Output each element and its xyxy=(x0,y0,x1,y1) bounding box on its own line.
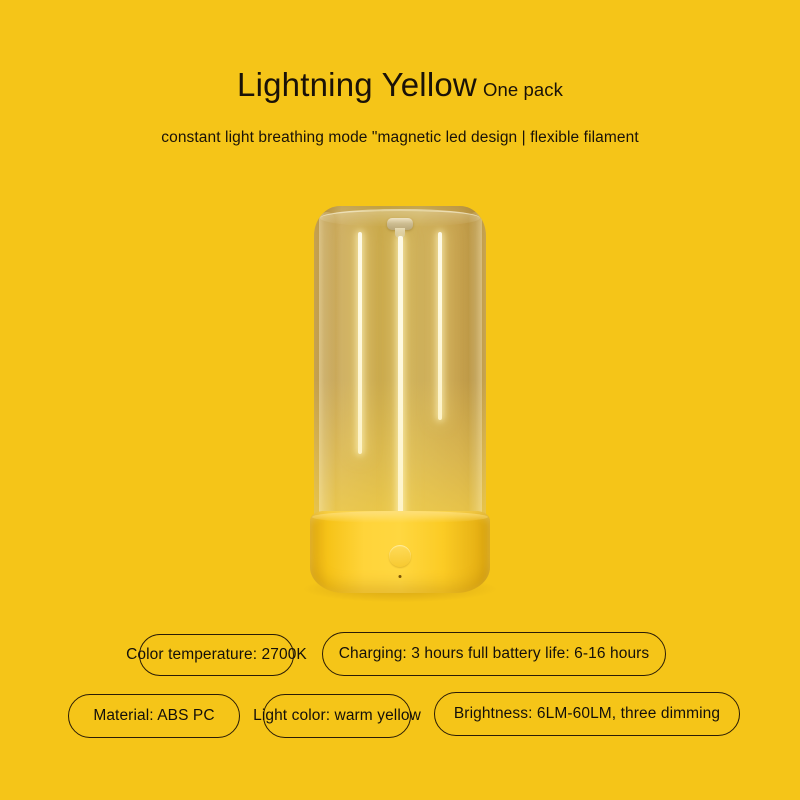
base-top-edge xyxy=(312,511,488,523)
product-image-lamp xyxy=(310,206,490,596)
spec-pill-charging: Charging: 3 hours full battery life: 6-1… xyxy=(322,632,666,676)
lamp-glass-shade xyxy=(314,206,486,528)
spec-pill-color-temperature: Color temperature: 2700K xyxy=(139,634,294,676)
spec-pill-label: Material: ABS PC xyxy=(93,707,214,725)
spec-pill-label: Brightness: 6LM-60LM, three dimming xyxy=(454,705,720,723)
led-filament-strand xyxy=(398,236,403,528)
spec-pill-brightness: Brightness: 6LM-60LM, three dimming xyxy=(434,692,740,736)
pack-label: One pack xyxy=(483,79,563,100)
spec-pill-label: Color temperature: 2700K xyxy=(126,646,307,664)
glass-highlight-left xyxy=(319,212,335,521)
status-led-indicator xyxy=(399,575,402,578)
lamp-base xyxy=(310,511,490,593)
spec-pill-label: Light color: warm yellow xyxy=(253,707,421,725)
product-poster: Lightning YellowOne pack constant light … xyxy=(0,0,800,800)
glass-highlight-right xyxy=(469,212,482,521)
spec-pill-label: Charging: 3 hours full battery life: 6-1… xyxy=(339,645,650,663)
led-filament-strand xyxy=(438,232,442,420)
spec-pill-light-color: Light color: warm yellow xyxy=(263,694,411,738)
spec-pill-material: Material: ABS PC xyxy=(68,694,240,738)
product-title: Lightning Yellow xyxy=(237,66,477,103)
power-button-icon xyxy=(389,545,411,567)
led-filament-strand xyxy=(358,232,362,454)
product-subtitle: constant light breathing mode "magnetic … xyxy=(0,129,800,147)
page-title: Lightning YellowOne pack xyxy=(0,66,800,104)
